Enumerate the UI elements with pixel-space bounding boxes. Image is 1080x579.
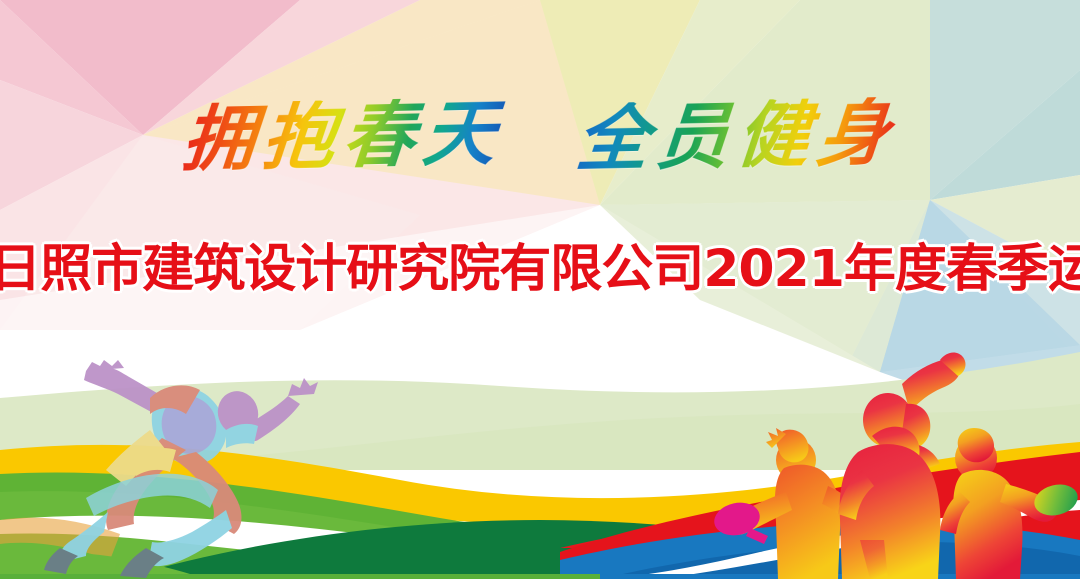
slogan-all-staff-fitness: 全员健身 <box>574 97 901 176</box>
page-title: 日照市建筑设计研究院有限公司2021年度春季运动会 <box>0 244 1080 295</box>
slogan-embrace-spring: 拥抱春天 <box>180 97 507 176</box>
slogan-row: 拥抱春天 全员健身 <box>0 86 1080 186</box>
sports-meet-banner: 拥抱春天 全员健身 日照市建筑设计研究院有限公司2021年度春季运动会 <box>0 0 1080 579</box>
